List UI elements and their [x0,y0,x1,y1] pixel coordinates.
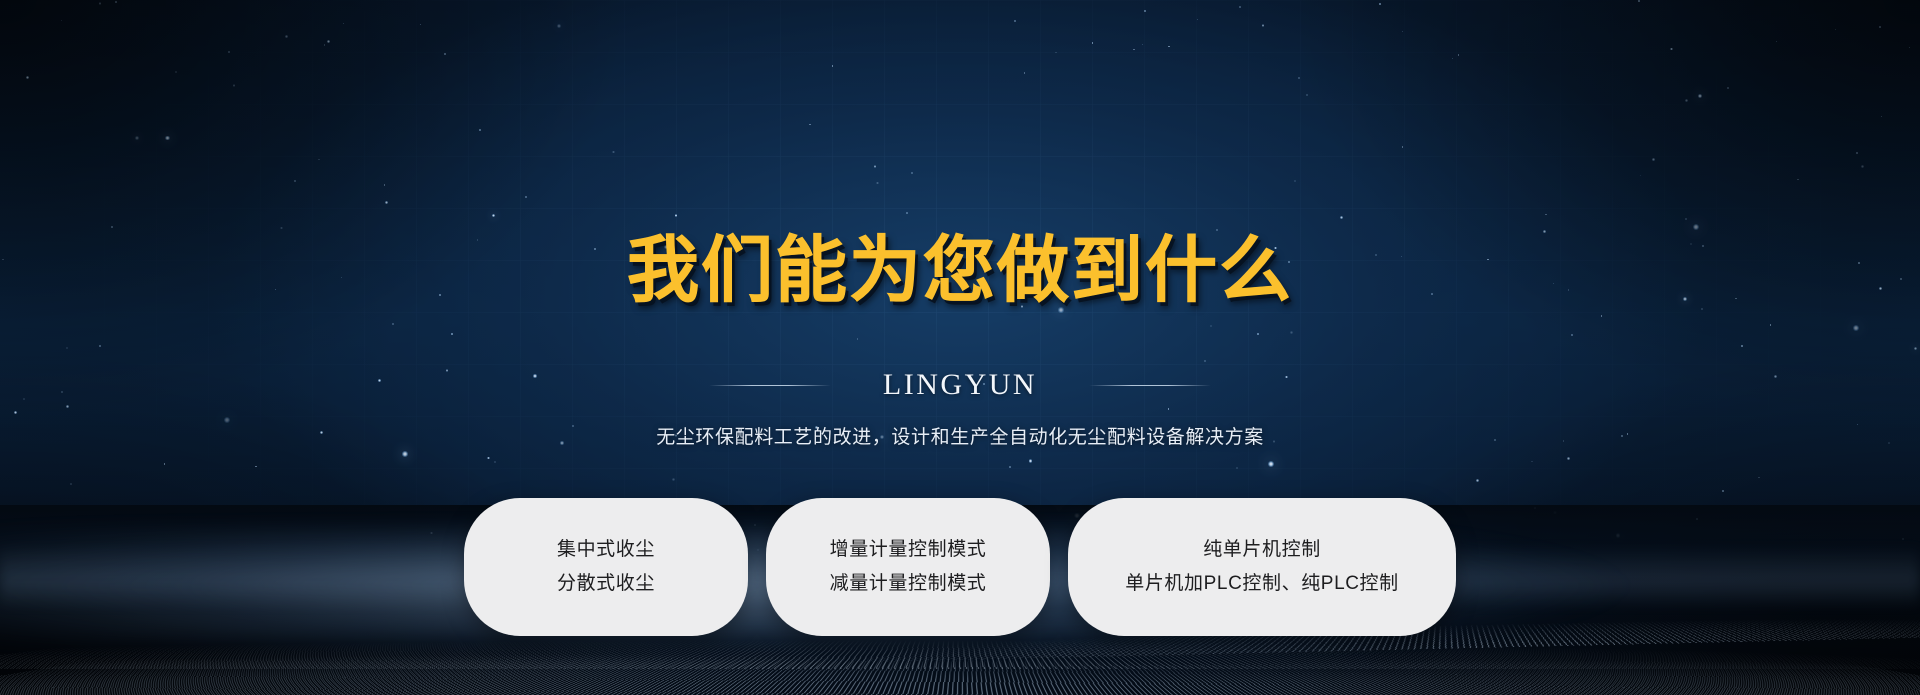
banner-description: 无尘环保配料工艺的改进，设计和生产全自动化无尘配料设备解决方案 [656,422,1264,449]
feature-card-line: 纯单片机控制 [1203,540,1321,561]
hero-banner: 我们能为您做到什么 LINGYUN 无尘环保配料工艺的改进，设计和生产全自动化无… [0,0,1920,695]
feature-card[interactable]: 集中式收尘 分散式收尘 [464,498,748,636]
feature-card[interactable]: 纯单片机控制 单片机加PLC控制、纯PLC控制 [1068,498,1456,636]
feature-card-line: 减量计量控制模式 [830,574,987,595]
feature-card[interactable]: 增量计量控制模式 减量计量控制模式 [766,498,1050,636]
banner-content: 我们能为您做到什么 LINGYUN 无尘环保配料工艺的改进，设计和生产全自动化无… [0,0,1920,695]
subtitle-row: LINGYUN [709,368,1211,402]
feature-card-list: 集中式收尘 分散式收尘 增量计量控制模式 减量计量控制模式 纯单片机控制 单片机… [464,498,1456,636]
feature-card-line: 集中式收尘 [557,540,655,561]
feature-card-line: 增量计量控制模式 [830,540,987,561]
brand-subtitle: LINGYUN [883,368,1037,402]
feature-card-line: 单片机加PLC控制、纯PLC控制 [1125,574,1399,595]
subtitle-rule-left [709,385,831,386]
feature-card-line: 分散式收尘 [557,574,655,595]
page-title: 我们能为您做到什么 [627,234,1293,306]
subtitle-rule-right [1089,385,1211,386]
